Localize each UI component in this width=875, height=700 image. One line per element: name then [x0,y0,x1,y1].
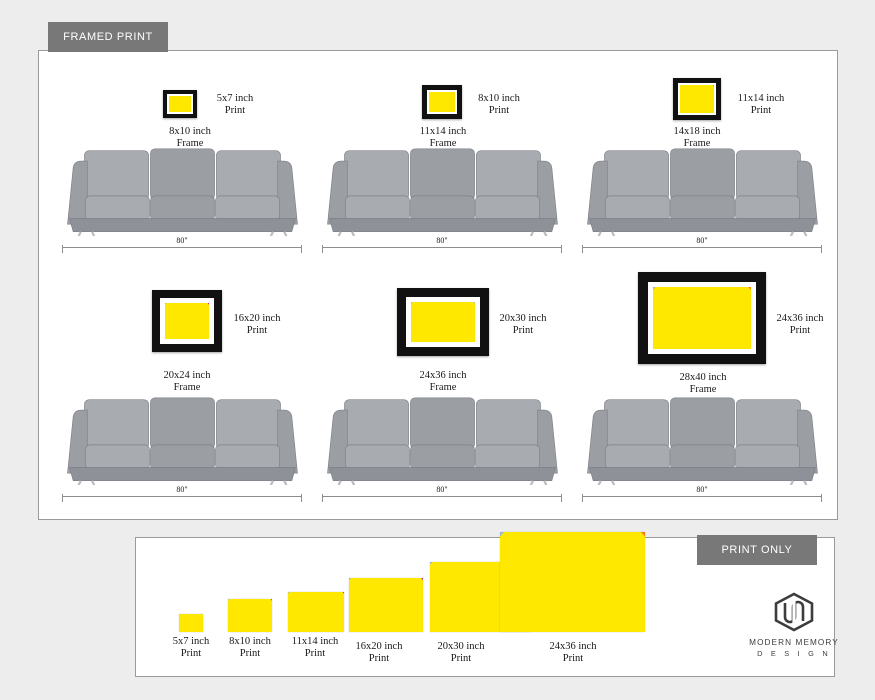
artwork-colored-pencils [653,287,751,349]
print-size-label-1: 5x7 inchPrint [200,93,270,118]
print-size-label-2: 8x10 inchPrint [464,93,534,118]
framed-print-tab[interactable]: FRAMED PRINT [48,22,168,52]
sofa-5 [320,392,565,494]
artwork-colored-pencils [680,85,714,113]
print-size-label-5: 20x30 inchPrint [487,313,559,338]
frame-mat [678,83,716,115]
sofa-3 [580,143,825,245]
print-thumbnail-6[interactable] [500,532,645,632]
sofa-illustration [580,392,825,494]
artwork-colored-pencils [165,303,209,339]
logo-name: MODERN MEMORY [735,638,853,647]
sofa-illustration [60,392,305,494]
artwork-colored-pencils [411,302,475,342]
sofa-dimension-5: 80" [322,489,562,503]
logo-subtitle: D E S I G N [735,649,853,658]
print-size-label-4: 16x20 inchPrint [222,313,292,338]
frame-mat [427,90,457,114]
sofa-illustration [320,392,565,494]
sofa-2 [320,143,565,245]
framed-print-4[interactable] [152,290,222,352]
print-only-label-1: 5x7 inchPrint [160,636,222,661]
logo-monogram-icon [772,592,816,632]
sofa-4 [60,392,305,494]
sofa-dimension-6: 80" [582,489,822,503]
sofa-illustration [320,143,565,245]
print-only-label-5: 20x30 inchPrint [415,641,507,666]
sofa-6 [580,392,825,494]
sofa-dimension-3: 80" [582,240,822,254]
sofa-dimension-4: 80" [62,489,302,503]
print-thumbnail-1[interactable] [179,614,203,632]
sofa-1 [60,143,305,245]
sofa-illustration [60,143,305,245]
print-thumbnail-3[interactable] [288,592,344,632]
print-thumbnail-2[interactable] [228,599,272,632]
framed-print-2[interactable] [422,85,462,119]
framed-print-3[interactable] [673,78,721,120]
framed-print-6[interactable] [638,272,766,364]
artwork-colored-pencils [429,92,455,112]
sofa-illustration [580,143,825,245]
print-thumbnail-4[interactable] [349,578,423,632]
frame-mat [160,298,214,344]
print-only-label-6: 24x36 inchPrint [527,641,619,666]
frame-mat [648,282,756,354]
framed-print-1[interactable] [163,90,197,118]
print-only-label-4: 16x20 inchPrint [336,641,422,666]
frame-mat [167,94,193,114]
print-size-label-6: 24x36 inchPrint [764,313,836,338]
print-size-label-3: 11x14 inchPrint [726,93,796,118]
print-only-tab[interactable]: PRINT ONLY [697,535,817,565]
sofa-dimension-1: 80" [62,240,302,254]
frame-mat [406,297,480,347]
framed-print-5[interactable] [397,288,489,356]
artwork-colored-pencils [169,96,191,112]
sofa-dimension-2: 80" [322,240,562,254]
brand-logo: MODERN MEMORY D E S I G N [735,592,853,658]
